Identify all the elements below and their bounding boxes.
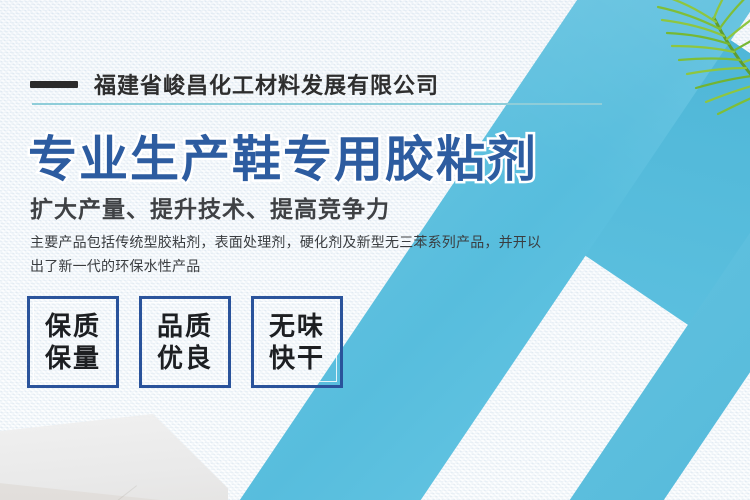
company-row: 福建省峻昌化工材料发展有限公司 — [30, 68, 439, 100]
feature-badge[interactable]: 保质 保量 — [27, 296, 119, 388]
feature-badge-inner: 品质 优良 — [145, 302, 225, 382]
feature-badge[interactable]: 无味 快干 — [251, 296, 343, 388]
subheadline: 扩大产量、提升技术、提高竞争力 — [30, 190, 390, 224]
feature-badge-inner: 无味 快干 — [257, 302, 337, 382]
description: 主要产品包括传统型胶粘剂，表面处理剂，硬化剂及新型无三苯系列产品，并开以 出了新… — [30, 230, 615, 278]
horizontal-dash-icon — [30, 81, 78, 88]
feature-badge-inner: 保质 保量 — [33, 302, 113, 382]
headline: 专业生产鞋专用胶粘剂 — [28, 120, 538, 191]
feature-badge-line-2: 快干 — [269, 343, 325, 373]
feature-badge-line-1: 无味 — [269, 311, 325, 341]
header-divider — [32, 103, 602, 105]
description-line-1: 主要产品包括传统型胶粘剂，表面处理剂，硬化剂及新型无三苯系列产品，并开以 — [30, 230, 615, 254]
feature-badge-line-1: 品质 — [157, 311, 213, 341]
feature-badge-line-2: 保量 — [45, 343, 101, 373]
feature-badge-line-1: 保质 — [45, 311, 101, 341]
feature-badge[interactable]: 品质 优良 — [139, 296, 231, 388]
company-name: 福建省峻昌化工材料发展有限公司 — [94, 68, 439, 100]
description-line-2: 出了新一代的环保水性产品 — [30, 254, 615, 278]
feature-badge-line-2: 优良 — [157, 343, 213, 373]
banner-content: 福建省峻昌化工材料发展有限公司 专业生产鞋专用胶粘剂 扩大产量、提升技术、提高竞… — [0, 0, 750, 500]
feature-badge-list: 保质 保量 品质 优良 无味 快干 — [27, 296, 343, 388]
promo-banner: 福建省峻昌化工材料发展有限公司 专业生产鞋专用胶粘剂 扩大产量、提升技术、提高竞… — [0, 0, 750, 500]
